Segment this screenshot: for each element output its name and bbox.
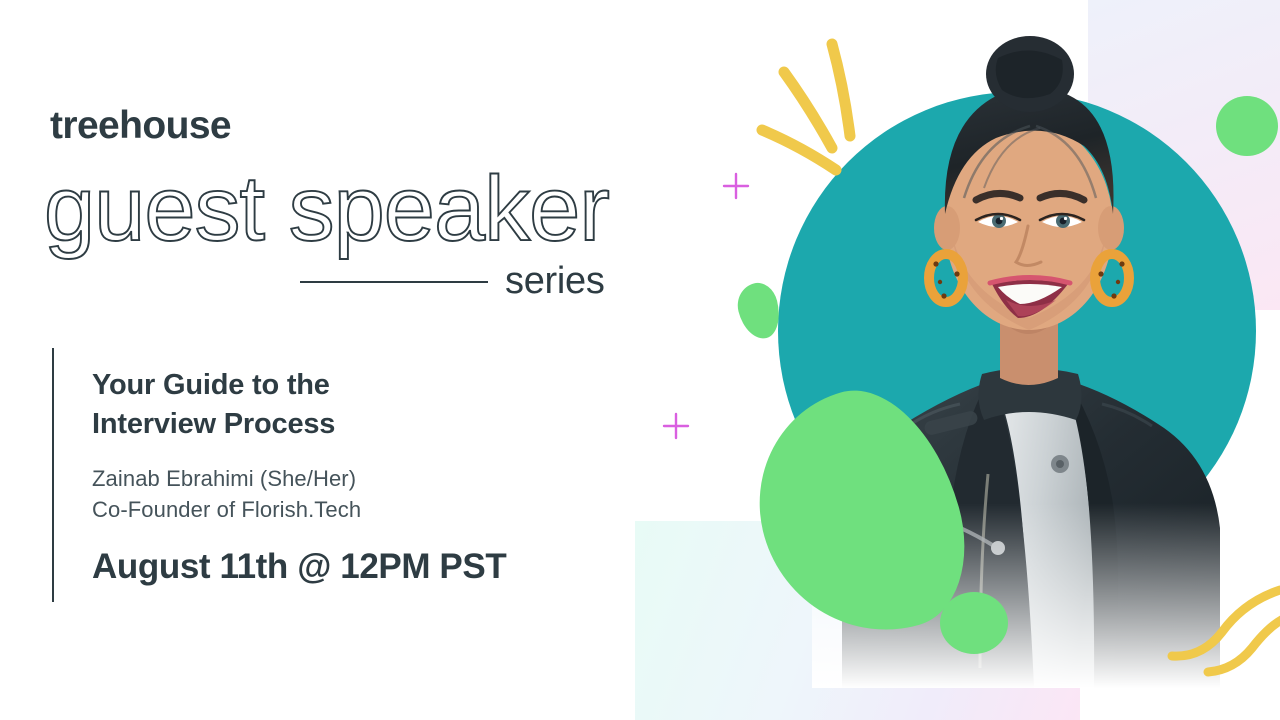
- event-info-block: Your Guide to the Interview Process Zain…: [92, 366, 612, 588]
- series-rule-group: series: [300, 258, 630, 304]
- talk-title: Your Guide to the Interview Process: [92, 366, 612, 443]
- speaker-role: Co-Founder of Florish.Tech: [92, 494, 612, 525]
- talk-title-line-1: Your Guide to the: [92, 366, 612, 405]
- event-date-time: August 11th @ 12PM PST: [92, 546, 612, 588]
- green-circle-bottom: [940, 592, 1008, 654]
- svg-text:guest speaker: guest speaker: [44, 158, 609, 260]
- speaker-name: Zainab Ebrahimi (She/Her): [92, 463, 612, 494]
- left-content-column: treehouse guest speaker series Your Guid…: [0, 0, 660, 720]
- plus-mark-icon: [662, 412, 690, 440]
- sparkle-strokes-icon: [740, 30, 900, 190]
- wave-strokes-icon: [1160, 560, 1280, 690]
- series-divider-rule: [300, 281, 488, 283]
- poster-canvas: treehouse guest speaker series Your Guid…: [0, 0, 1280, 720]
- talk-title-line-2: Interview Process: [92, 405, 612, 444]
- plus-mark-icon: [722, 172, 750, 200]
- treehouse-wordmark: treehouse: [50, 106, 231, 145]
- guest-speaker-headline: guest speaker: [36, 158, 656, 268]
- vertical-accent-rule: [52, 348, 54, 602]
- series-label: series: [505, 258, 605, 304]
